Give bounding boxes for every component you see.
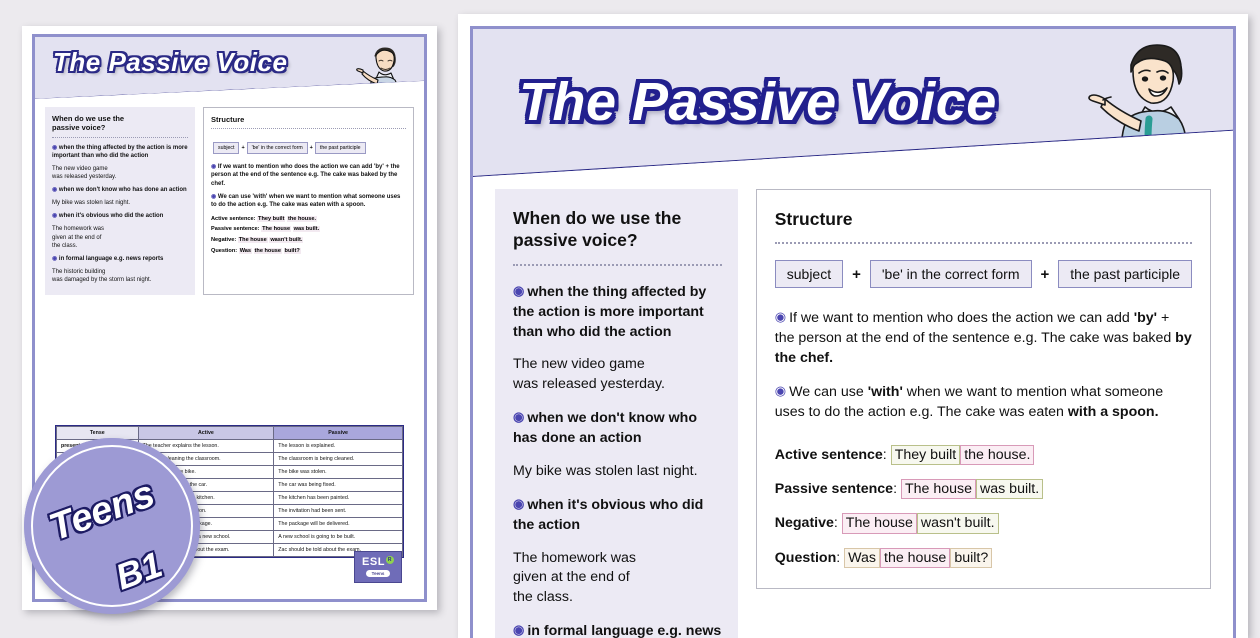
bullet-icon [513, 283, 524, 298]
worksheet-preview-stage: The Passive Voice [0, 0, 1260, 630]
cell-passive: The package will be delivered. [274, 518, 403, 531]
bullet-icon: ◉ [52, 145, 57, 151]
thumbnail-left-heading-l2: passive voice? [52, 123, 188, 132]
chunk-subject: They built [891, 445, 961, 465]
esl-pill-label: Teens [366, 570, 391, 577]
thumbnail-divider [52, 137, 188, 138]
thumbnail-bullet-2: ◉ when we don't know who has done an act… [52, 186, 188, 194]
usage-heading-line2: passive voice? [513, 229, 722, 251]
thumbnail-formula-part-2: 'be' in the correct form [247, 142, 308, 154]
formula-plus-1: + [852, 266, 861, 283]
main-body: When do we use the passive voice? when t… [495, 189, 1211, 638]
thumbnail-bullet-4: ◉ in formal language e.g. news reports [52, 255, 188, 263]
chunk-subject: The house [842, 513, 917, 533]
thumbnail-left-box: When do we use the passive voice? ◉ when… [45, 107, 195, 295]
thumbnail-sentence-1: Active sentence: They built the house. [211, 214, 406, 225]
table-header-active: Active [138, 427, 274, 440]
structure-divider [775, 242, 1192, 244]
thumbnail-formula-part-1: subject [213, 142, 239, 154]
formula-part-participle: the past participle [1058, 260, 1192, 288]
usage-divider [513, 264, 722, 266]
chunk-participle: built? [950, 548, 992, 568]
usage-example-2: My bike was stolen last night. [513, 462, 722, 482]
cell-passive: A new school is going to be built. [274, 531, 403, 544]
example-negative-sentence: Negative: The housewasn't built. [775, 513, 1192, 533]
thumbnail-example-3: The homework wasgiven at the end ofthe c… [52, 225, 188, 249]
thumbnail-formula-plus-1: + [241, 145, 244, 151]
main-header-band: The Passive Voice [473, 29, 1233, 177]
chunk-verb: was built. [976, 479, 1043, 499]
chunk-subject: The house [901, 479, 976, 499]
thumbnail-sentence-4: Question: Was the house built? [211, 246, 406, 257]
chunk-verb: wasn't built. [917, 513, 999, 533]
structure-note-1: If we want to mention who does the actio… [775, 308, 1192, 369]
passive-usage-panel: When do we use the passive voice? when t… [495, 189, 738, 638]
bullet-icon [513, 409, 524, 424]
thumbnail-sentence-3: Negative: The house wasn't built. [211, 235, 406, 246]
esl-logo[interactable]: ESLR Teens [354, 551, 402, 583]
bullet-icon: ◉ [211, 194, 216, 200]
bullet-icon: ◉ [211, 164, 216, 170]
registered-mark-icon: R [386, 556, 394, 564]
thumbnail-example-4: The historic buildingwas damaged by the … [52, 268, 188, 284]
thumbnail-sentence-2: Passive sentence: The house was built. [211, 224, 406, 235]
thumbnail-example-2: My bike was stolen last night. [52, 199, 188, 207]
formula-part-subject: subject [775, 260, 843, 288]
structure-heading: Structure [775, 208, 1192, 230]
thumbnail-formula-plus-2: + [310, 145, 313, 151]
usage-example-1: The new video gamewas released yesterday… [513, 355, 722, 395]
thumbnail-structure-heading: Structure [211, 115, 406, 124]
thumbnail-example-1: The new video gamewas released yesterday… [52, 165, 188, 181]
example-active-sentence: Active sentence: They builtthe house. [775, 445, 1192, 465]
cell-passive: The invitation had been sent. [274, 505, 403, 518]
thumbnail-formula-part-3: the past participle [315, 142, 366, 154]
cell-passive: The kitchen has been painted. [274, 492, 403, 505]
esl-brand-text: ESLR [362, 557, 394, 568]
bullet-icon: ◉ [52, 256, 57, 262]
thumbnail-right-box: Structure subject+'be' in the correct fo… [203, 107, 414, 295]
usage-bullet-2: when we don't know who has done an actio… [513, 408, 722, 449]
thumbnail-bullet-1: ◉ when the thing affected by the action … [52, 144, 188, 160]
chunk-subject: the house [880, 548, 950, 568]
thumbnail-header-band: The Passive Voice [35, 37, 424, 99]
thumbnail-left-heading-l1: When do we use the [52, 114, 188, 123]
usage-example-3: The homework wasgiven at the end ofthe c… [513, 549, 722, 609]
structure-formula: subject + 'be' in the correct form + the… [775, 260, 1192, 288]
level-badge: Teens B1 [24, 438, 200, 614]
thumbnail-title: The Passive Voice [53, 47, 287, 78]
thumbnail-note-2: ◉ We can use 'with' when we want to ment… [211, 193, 406, 209]
worksheet-main-page[interactable]: The Passive Voice [458, 14, 1248, 638]
example-question-sentence: Question: Wasthe housebuilt? [775, 548, 1192, 568]
cell-passive: The car was being fixed. [274, 479, 403, 492]
table-header-passive: Passive [274, 427, 403, 440]
bullet-icon [775, 309, 786, 324]
usage-bullet-1: when the thing affected by the action is… [513, 282, 722, 343]
thumbnail-bullet-3: ◉ when it's obvious who did the action [52, 212, 188, 220]
thumbnail-note-1: ◉ If we want to mention who does the act… [211, 163, 406, 187]
formula-part-be: 'be' in the correct form [870, 260, 1032, 288]
main-frame: The Passive Voice [470, 26, 1236, 638]
cell-passive: The classroom is being cleaned. [274, 453, 403, 466]
example-passive-sentence: Passive sentence: The housewas built. [775, 479, 1192, 499]
chunk-object: the house. [960, 445, 1034, 465]
bullet-icon [775, 383, 786, 398]
bullet-icon: ◉ [52, 187, 57, 193]
structure-panel: Structure subject + 'be' in the correct … [756, 189, 1211, 589]
thumbnail-divider-2 [211, 128, 406, 129]
bullet-icon: ◉ [52, 213, 57, 219]
worksheet-title: The Passive Voice [519, 71, 997, 133]
formula-plus-2: + [1041, 266, 1050, 283]
usage-bullet-3: when it's obvious who did the action [513, 495, 722, 536]
cell-passive: The bike was stolen. [274, 466, 403, 479]
usage-heading-line1: When do we use the [513, 207, 722, 229]
structure-note-2: We can use 'with' when we want to mentio… [775, 382, 1192, 423]
chunk-aux: Was [844, 548, 880, 568]
bullet-icon [513, 496, 524, 511]
cell-passive: The lesson is explained. [274, 440, 403, 453]
table-header-tense: Tense [57, 427, 139, 440]
